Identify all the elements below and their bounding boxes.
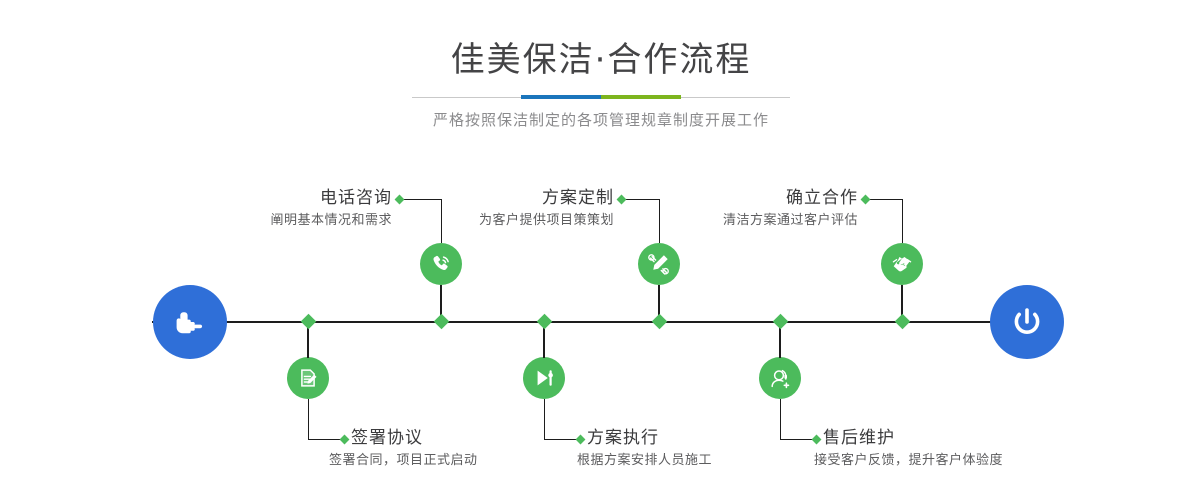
leader-dot-step-5 [812,435,822,445]
leader-vertical-step-2 [308,399,309,439]
page-title: 佳美保洁·合作流程 [0,38,1202,82]
phone-call-icon [429,252,453,276]
step-node-step-2[interactable] [287,357,329,399]
timeline-end-node[interactable] [990,285,1064,359]
headset-support-icon [768,366,792,390]
step-title-step-3: 方案定制 [370,186,614,210]
timeline-start-node[interactable] [153,285,227,359]
step-title-step-4: 方案执行 [587,426,712,450]
axis-marker-step-6 [895,314,911,330]
step-label-step-3: 方案定制 为客户提供项目策策划 [370,186,614,232]
leader-vertical-step-6 [902,199,903,243]
step-label-step-1: 电话咨询 阐明基本情况和需求 [148,186,392,232]
step-node-step-3[interactable] [638,243,680,285]
axis-marker-step-1 [434,314,450,330]
step-label-step-5: 售后维护 接受客户反馈，提升客户体验度 [823,426,1003,472]
step-desc-step-4: 根据方案安排人员施工 [577,450,712,472]
leader-vertical-step-5 [780,399,781,439]
step-label-step-4: 方案执行 根据方案安排人员施工 [587,426,712,472]
axis-marker-step-2 [301,314,317,330]
step-desc-step-2: 签署合同，项目正式启动 [329,450,478,472]
step-desc-step-6: 清洁方案通过客户评估 [614,210,858,232]
leader-vertical-step-4 [544,399,545,439]
play-execute-icon [532,366,556,390]
step-label-step-6: 确立合作 清洁方案通过客户评估 [614,186,858,232]
title-divider-green-segment [601,95,681,99]
step-node-step-1[interactable] [420,243,462,285]
step-node-step-6[interactable] [881,243,923,285]
step-desc-step-3: 为客户提供项目策策划 [370,210,614,232]
handshake-icon [890,252,914,276]
step-desc-step-1: 阐明基本情况和需求 [148,210,392,232]
axis-marker-step-3 [652,314,668,330]
step-title-step-6: 确立合作 [614,186,858,210]
step-title-step-2: 签署协议 [351,426,478,450]
pointing-hand-icon [170,302,210,342]
step-title-step-1: 电话咨询 [148,186,392,210]
timeline-axis [152,321,1050,323]
power-icon [1006,301,1048,343]
step-node-step-5[interactable] [759,357,801,399]
pencil-design-icon [647,252,671,276]
step-title-step-5: 售后维护 [823,426,1003,450]
page-subtitle: 严格按照保洁制定的各项管理规章制度开展工作 [0,108,1202,132]
document-edit-icon [296,366,320,390]
title-divider-blue-segment [521,95,601,99]
step-node-step-4[interactable] [523,357,565,399]
leader-horizontal-step-6 [866,199,902,200]
axis-marker-step-4 [537,314,553,330]
step-label-step-2: 签署协议 签署合同，项目正式启动 [351,426,478,472]
flow-diagram-page: 佳美保洁·合作流程 严格按照保洁制定的各项管理规章制度开展工作 [0,0,1202,502]
leader-dot-step-2 [340,435,350,445]
axis-marker-step-5 [773,314,789,330]
step-desc-step-5: 接受客户反馈，提升客户体验度 [814,450,1003,472]
leader-dot-step-6 [861,195,871,205]
leader-dot-step-4 [576,435,586,445]
